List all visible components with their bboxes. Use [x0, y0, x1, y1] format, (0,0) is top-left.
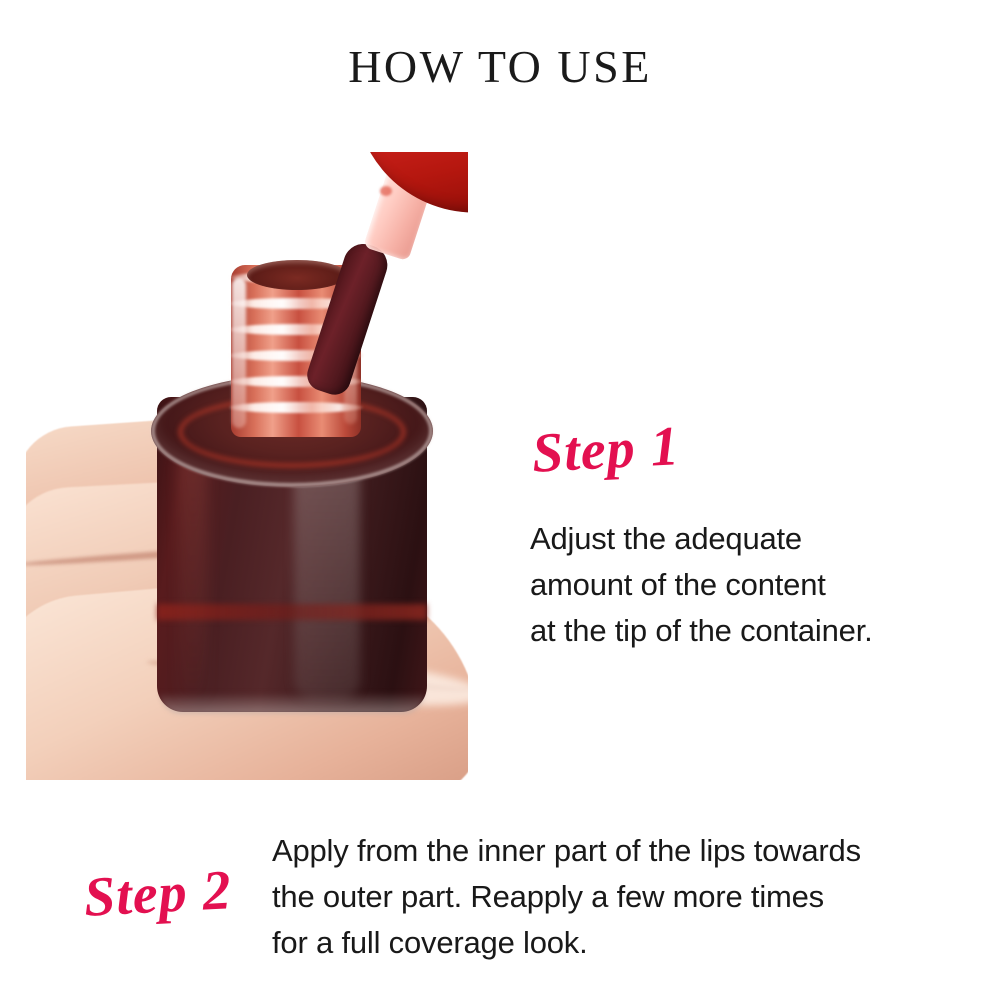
applicator-stem-dot	[380, 186, 392, 196]
bottle-opening	[247, 260, 347, 290]
step-1-label: Step 1	[530, 414, 681, 486]
step-2-label: Step 2	[82, 858, 233, 930]
step-1-body: Adjust the adequate amount of the conten…	[530, 516, 960, 654]
neck-thread-6	[229, 402, 363, 413]
neck-highlight-left	[232, 278, 246, 428]
bottle-bottom-edge	[159, 692, 425, 714]
how-to-use-page: HOW TO USE Step 1 Adjust th	[0, 0, 1000, 1000]
bottle-sheen-left	[178, 452, 208, 702]
product-photo	[26, 152, 468, 780]
step-2-body: Apply from the inner part of the lips to…	[272, 828, 972, 966]
page-title: HOW TO USE	[0, 44, 1000, 90]
bottle-reflection-band	[157, 604, 427, 620]
